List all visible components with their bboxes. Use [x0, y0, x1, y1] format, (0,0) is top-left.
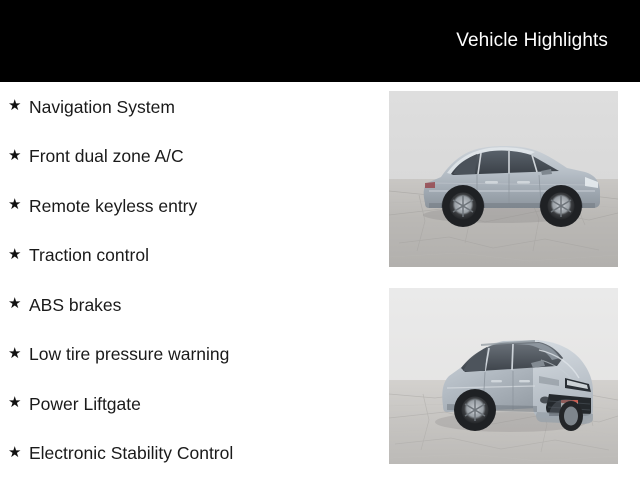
highlight-label: ABS brakes: [29, 294, 121, 316]
star-bullet-icon: ★: [8, 197, 29, 212]
list-item: ★ Remote keyless entry: [0, 181, 386, 231]
star-bullet-icon: ★: [8, 148, 29, 163]
list-item: ★ Electronic Stability Control: [0, 429, 386, 479]
highlight-label: Low tire pressure warning: [29, 343, 229, 365]
header-bar: Vehicle Highlights: [0, 0, 640, 82]
list-item: ★ ABS brakes: [0, 280, 386, 330]
vehicle-side-profile-illustration: [389, 91, 618, 267]
star-bullet-icon: ★: [8, 395, 29, 410]
star-bullet-icon: ★: [8, 445, 29, 460]
highlights-list: ★ Navigation System ★ Front dual zone A/…: [0, 82, 386, 480]
list-item: ★ Front dual zone A/C: [0, 132, 386, 182]
list-item: ★ Low tire pressure warning: [0, 330, 386, 380]
highlight-label: Remote keyless entry: [29, 195, 197, 217]
highlight-label: Traction control: [29, 244, 149, 266]
vehicle-highlights-page: Vehicle Highlights ★ Navigation System ★…: [0, 0, 640, 480]
star-bullet-icon: ★: [8, 296, 29, 311]
star-bullet-icon: ★: [8, 346, 29, 361]
list-item: ★ Power Liftgate: [0, 379, 386, 429]
vehicle-front-quarter-illustration: [389, 288, 618, 464]
vehicle-photo-front-three-quarter[interactable]: [389, 288, 618, 464]
highlight-label: Power Liftgate: [29, 393, 141, 415]
list-item: ★ Navigation System: [0, 82, 386, 132]
list-item: ★ Traction control: [0, 231, 386, 281]
highlight-label: Navigation System: [29, 96, 175, 118]
highlight-label: Front dual zone A/C: [29, 145, 184, 167]
star-bullet-icon: ★: [8, 247, 29, 262]
star-bullet-icon: ★: [8, 98, 29, 113]
page-title: Vehicle Highlights: [456, 29, 608, 53]
highlight-label: Electronic Stability Control: [29, 442, 233, 464]
vehicle-photo-side-profile[interactable]: [389, 91, 618, 267]
